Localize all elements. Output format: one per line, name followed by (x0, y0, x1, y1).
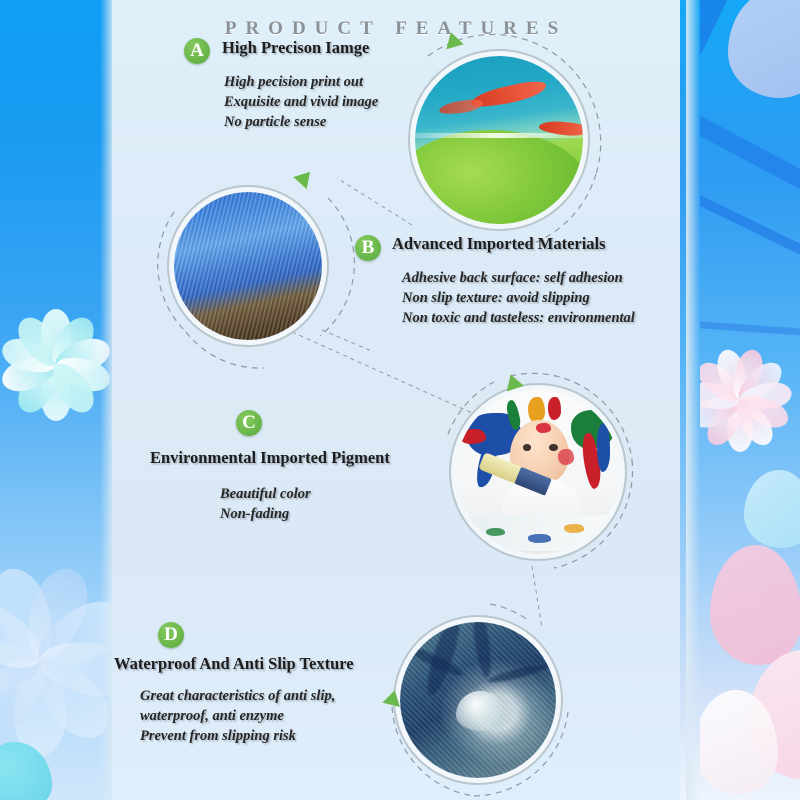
photo-c-painted-baby (456, 390, 620, 554)
line-c-1: Beautiful color (220, 484, 311, 504)
lines-b: Adhesive back surface: self adhesion Non… (402, 268, 635, 328)
right-stripe-4 (700, 320, 800, 341)
arrow-d-icon (382, 688, 403, 707)
arrow-a-icon (442, 30, 463, 49)
heading-c: Environmental Imported Pigment (150, 448, 390, 468)
page-title: PRODUCT FEATURES (112, 18, 680, 40)
line-d-2: waterproof, anti enzyme (140, 706, 335, 726)
product-features-poster: PRODUCT FEATURES A (0, 0, 800, 800)
line-d-1: Great characteristics of anti slip, (140, 686, 335, 706)
arrow-c-icon (502, 372, 524, 392)
heading-b: Advanced Imported Materials (392, 234, 606, 254)
line-d-3: Prevent from slipping risk (140, 726, 335, 746)
photo-a-koi-pond (415, 56, 583, 224)
right-petal-5 (744, 470, 800, 548)
heading-d: Waterproof And Anti Slip Texture (114, 654, 354, 674)
right-petal-2 (710, 545, 800, 665)
lines-c: Beautiful color Non-fading (220, 484, 311, 524)
heading-a: High Precison Iamge (222, 38, 369, 58)
line-a-2: Exquisite and vivid image (224, 92, 378, 112)
line-c-2: Non-fading (220, 504, 311, 524)
lines-a: High pecision print out Exquisite and vi… (224, 72, 378, 132)
badge-a: A (184, 38, 210, 64)
line-b-2: Non slip texture: avoid slipping (402, 288, 635, 308)
center-panel: PRODUCT FEATURES A (112, 0, 680, 800)
right-stripe-3 (700, 190, 800, 287)
connector-lines (112, 0, 680, 800)
arrow-b-icon (293, 166, 316, 189)
photo-b-blue-fabric (174, 192, 322, 340)
line-b-1: Adhesive back surface: self adhesion (402, 268, 635, 288)
badge-d: D (158, 622, 184, 648)
right-edge-fade (686, 0, 700, 800)
line-b-3: Non toxic and tasteless: environmental (402, 308, 635, 328)
line-a-3: No particle sense (224, 112, 378, 132)
line-a-1: High pecision print out (224, 72, 378, 92)
badge-c: C (236, 410, 262, 436)
right-petal-1 (728, 0, 800, 98)
photo-d-water-droplet (400, 622, 556, 778)
lines-d: Great characteristics of anti slip, wate… (140, 686, 335, 746)
left-decorative-band (0, 0, 112, 800)
badge-b: B (355, 235, 381, 261)
